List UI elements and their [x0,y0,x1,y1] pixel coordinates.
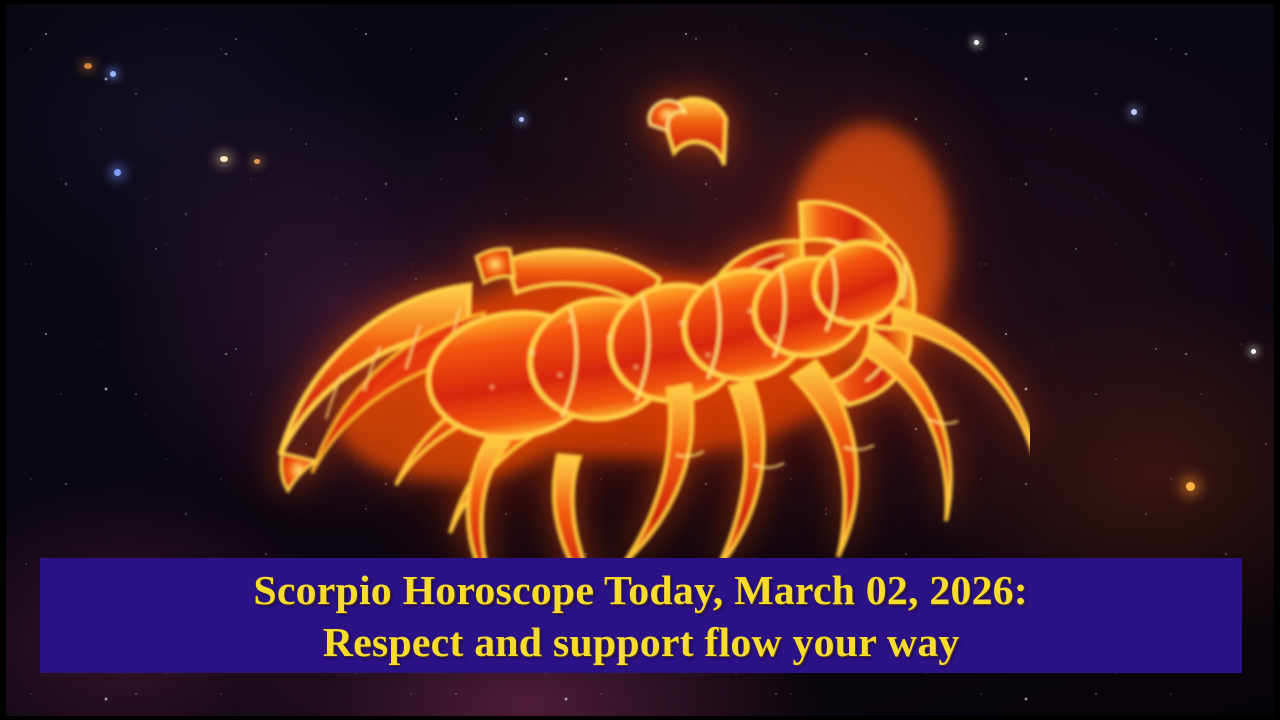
bright-star-amber-left [84,63,92,69]
bright-star-orange-right [1186,482,1195,491]
bright-star-white-center [220,156,228,162]
bright-star-amber-mid [254,159,260,164]
bright-star-white-lower-right [1251,349,1256,354]
headline-line-2: Respect and support flow your way [323,616,960,668]
bright-star-blue-upper-left [110,71,116,77]
bright-star-blue-upper-right [1131,109,1137,115]
screenshot-stage: Scorpio Horoscope Today, March 02, 2026:… [0,0,1280,720]
bright-star-blue-left [114,169,121,176]
bright-star-white-top [974,40,979,45]
bright-star-blue-top-mid [519,117,524,122]
headline-line-1: Scorpio Horoscope Today, March 02, 2026: [254,564,1029,616]
headline-caption-bar: Scorpio Horoscope Today, March 02, 2026:… [40,558,1242,673]
